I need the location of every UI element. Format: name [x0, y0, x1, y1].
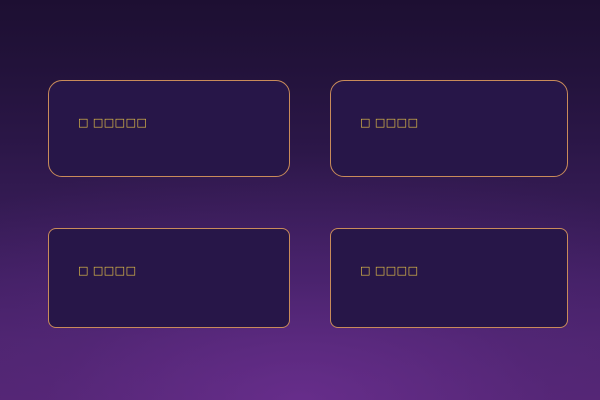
app-background: □ □□□□□ □ □□□□ □ □□□□ □ □□□□ [0, 0, 600, 400]
card-top-left-label: □ □□□□□ [78, 117, 147, 128]
card-bottom-left[interactable]: □ □□□□ [48, 228, 290, 328]
card-bottom-left-label: □ □□□□ [78, 265, 136, 276]
card-grid: □ □□□□□ □ □□□□ □ □□□□ □ □□□□ [48, 80, 568, 328]
card-top-left[interactable]: □ □□□□□ [48, 80, 290, 177]
card-bottom-right[interactable]: □ □□□□ [330, 228, 568, 328]
card-top-right-label: □ □□□□ [360, 117, 418, 128]
card-top-right[interactable]: □ □□□□ [330, 80, 568, 177]
card-bottom-right-label: □ □□□□ [360, 265, 418, 276]
